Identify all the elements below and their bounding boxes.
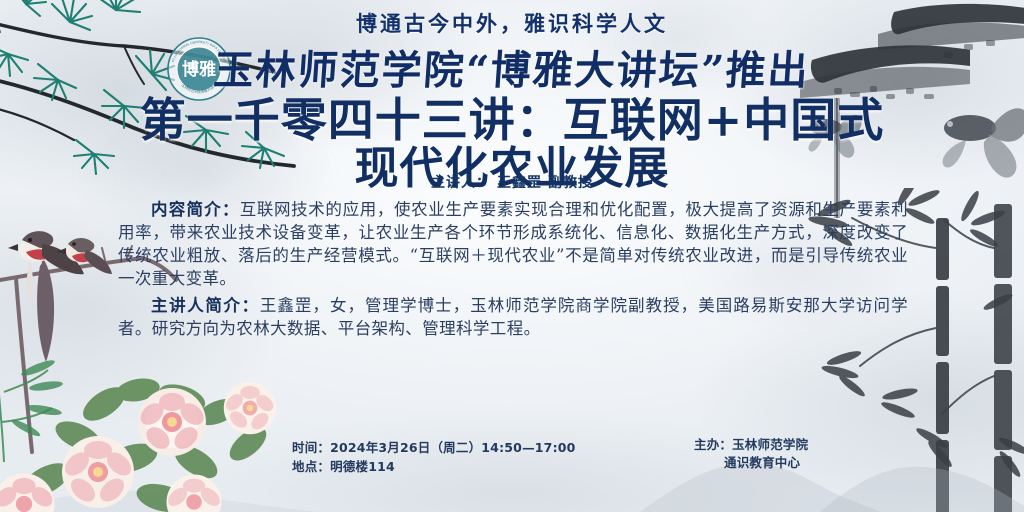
speaker-line: 主讲人：王鑫罡副教授 <box>0 172 1024 192</box>
event-place: 地点：明德楼114 <box>292 457 576 476</box>
intro-label: 内容简介： <box>151 200 240 219</box>
speaker-rank: 副教授 <box>548 175 593 191</box>
host-line-1: 主办：玉林师范学院 <box>694 436 808 454</box>
bio-paragraph: 主讲人简介：王鑫罡，女，管理学博士，玉林师范学院商学院副教授，美国路易斯安那大学… <box>118 294 908 340</box>
poster-body: 内容简介：互联网技术的应用，使农业生产要素实现合理和优化配置，极大提高了资源和生… <box>118 198 908 344</box>
intro-paragraph: 内容简介：互联网技术的应用，使农业生产要素实现合理和优化配置，极大提高了资源和生… <box>118 198 908 290</box>
event-host: 主办：玉林师范学院 通识教育中心 <box>694 436 808 472</box>
tagline: 博通古今中外，雅识科学人文 <box>0 8 1024 38</box>
event-details: 时间：2024年3月26日（周二）14:50—17:00 地点：明德楼114 <box>292 438 576 476</box>
lecture-poster: 博通古今中外，雅识科学人文 博雅 YU LIN NORMAL UNIVERSIT… <box>0 0 1024 512</box>
speaker-label: 主讲人： <box>431 175 491 191</box>
bio-label: 主讲人简介： <box>151 296 260 315</box>
host-line-2: 通识教育中心 <box>694 454 808 472</box>
event-time: 时间：2024年3月26日（周二）14:50—17:00 <box>292 438 576 457</box>
poster-content: 博通古今中外，雅识科学人文 博雅 YU LIN NORMAL UNIVERSIT… <box>0 0 1024 512</box>
speaker-name: 王鑫罡 <box>497 175 542 191</box>
